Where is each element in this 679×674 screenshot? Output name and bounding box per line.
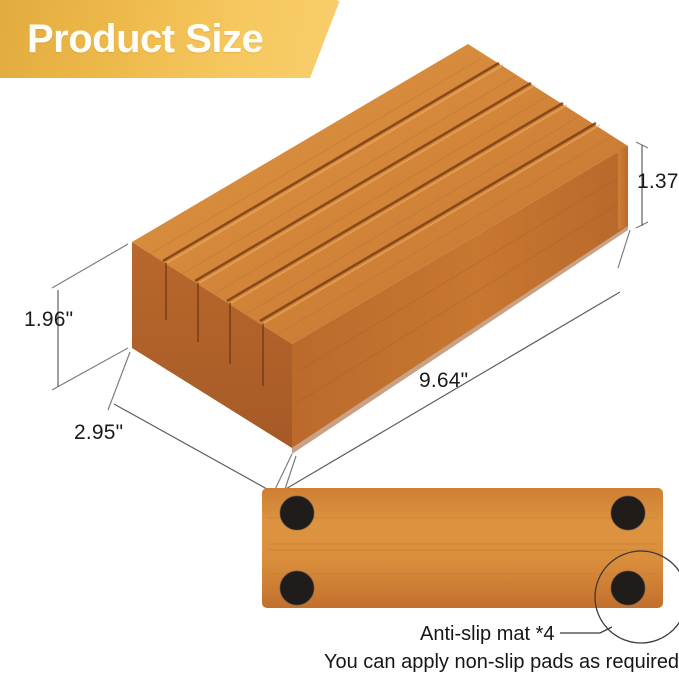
dimension-label-height: 1.37" — [637, 170, 679, 194]
bottom-view-illustration — [262, 488, 663, 610]
knife-block-illustration — [70, 30, 640, 490]
dimension-label-length: 9.64" — [419, 369, 468, 393]
non-slip-pads-note: You can apply non-slip pads as required. — [324, 651, 679, 674]
block-right-face — [618, 146, 628, 230]
anti-slip-mat-label: Anti-slip mat *4 — [420, 623, 555, 646]
dimension-label-depth: 2.95" — [74, 421, 123, 445]
dimension-label-side: 1.96" — [24, 308, 73, 332]
leader-line — [560, 627, 612, 633]
product-size-infographic: Product Size — [0, 0, 679, 674]
